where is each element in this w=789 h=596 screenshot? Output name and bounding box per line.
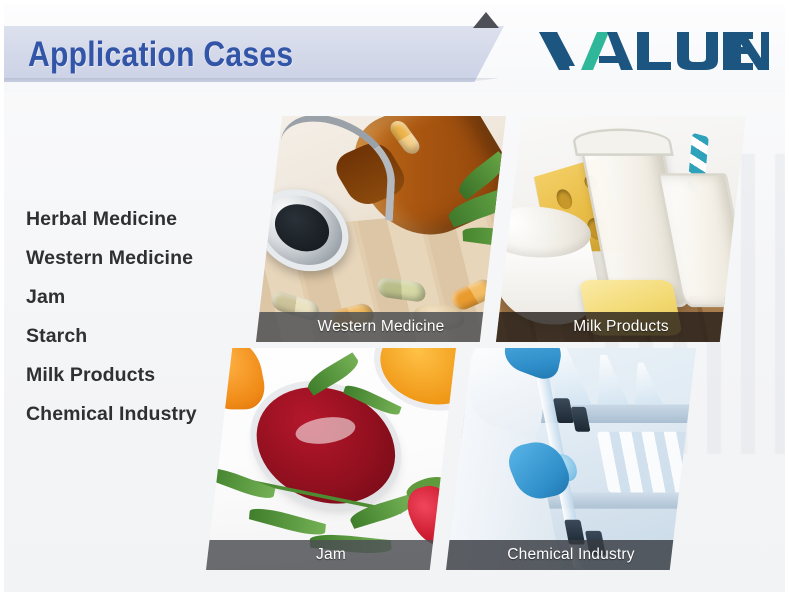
panel-milk-products[interactable]: Milk Products: [496, 116, 746, 342]
panel-western-medicine[interactable]: Western Medicine: [256, 116, 506, 342]
valuen-logo: VALUEN: [537, 28, 769, 74]
banner-fold-triangle-icon: [473, 12, 499, 28]
photo-milk-products: [496, 116, 746, 342]
slide-canvas: Application Cases: [4, 4, 785, 592]
page-title: Application Cases: [28, 31, 293, 79]
panel-chemical-industry[interactable]: Chemical Industry: [446, 348, 696, 570]
application-image-mosaic: Western Medicine Milk Products: [4, 100, 785, 578]
panel-caption: Jam: [206, 540, 456, 570]
panel-caption: Milk Products: [496, 312, 746, 342]
photo-western-medicine: [256, 116, 506, 342]
panel-caption: Western Medicine: [256, 312, 506, 342]
panel-jam[interactable]: Jam: [206, 348, 456, 570]
photo-chemical-industry: [446, 348, 696, 570]
photo-jam: [206, 348, 456, 570]
panel-caption: Chemical Industry: [446, 540, 696, 570]
application-cases-slide: Application Cases: [0, 0, 789, 596]
slide-header: Application Cases: [4, 4, 785, 92]
